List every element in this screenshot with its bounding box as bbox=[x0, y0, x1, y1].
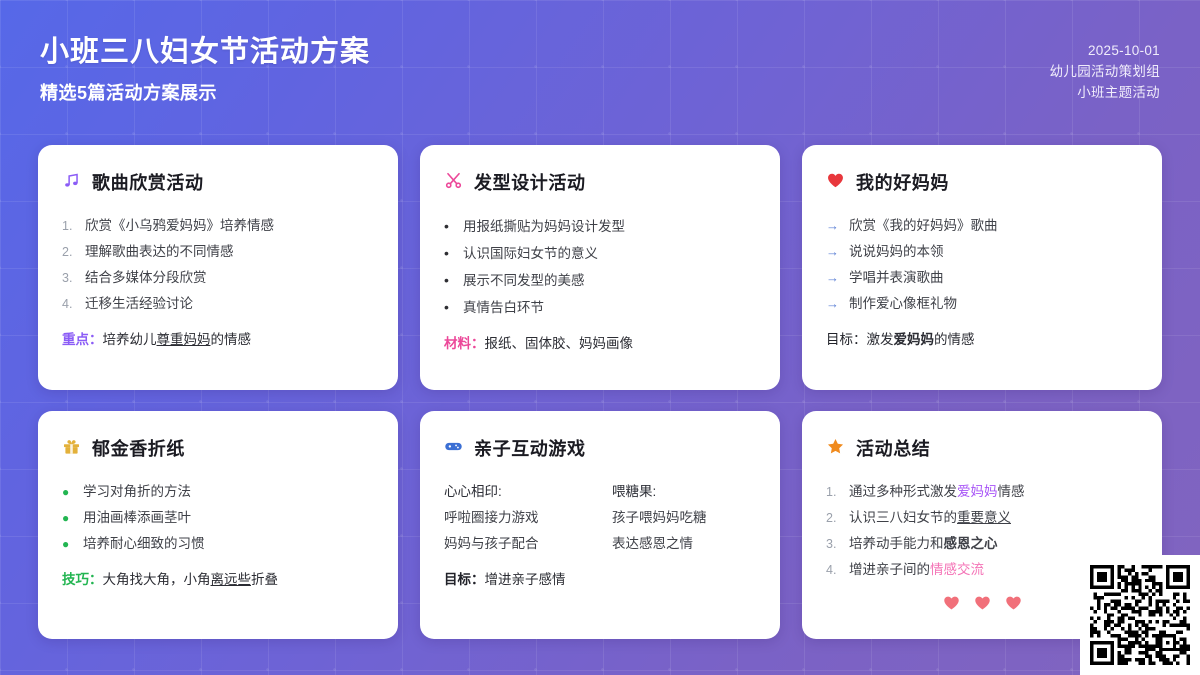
list-marker: 1. bbox=[826, 479, 841, 505]
note-body: 激发爱妈妈的情感 bbox=[867, 332, 975, 347]
activity-card[interactable]: 郁金香折纸●学习对角折的方法●用油画棒添画茎叶●培养耐心细致的习惯技巧：大角找大… bbox=[38, 411, 398, 639]
list-text: 认识三八妇女节的重要意义 bbox=[849, 505, 1138, 531]
note-label: 目标： bbox=[826, 332, 867, 347]
music-note-icon bbox=[62, 171, 81, 193]
list-item: 2.理解歌曲表达的不同情感 bbox=[62, 239, 374, 265]
activity-list: •用报纸撕贴为妈妈设计发型•认识国际妇女节的意义•展示不同发型的美感•真情告白环… bbox=[444, 213, 756, 321]
list-marker: • bbox=[444, 267, 455, 293]
text-run: 大角找大角，小角 bbox=[103, 572, 211, 587]
scissors-icon bbox=[444, 171, 463, 193]
card-title: 发型设计活动 bbox=[474, 169, 586, 195]
gift-icon bbox=[62, 437, 81, 459]
text-run: 培养幼儿 bbox=[103, 332, 157, 347]
note-body: 报纸、固体胶、妈妈画像 bbox=[485, 336, 634, 351]
list-marker: ● bbox=[62, 531, 75, 557]
page-header: 小班三八妇女节活动方案 精选5篇活动方案展示 2025-10-01 幼儿园活动策… bbox=[0, 0, 1200, 130]
game-line: 表达感恩之情 bbox=[612, 531, 756, 557]
heart-icon bbox=[943, 595, 960, 614]
highlight-pink: 情感交流 bbox=[930, 562, 984, 577]
highlight-bold: 爱妈妈 bbox=[894, 332, 935, 347]
card-header: 发型设计活动 bbox=[444, 169, 756, 195]
list-marker: → bbox=[826, 213, 841, 239]
list-marker: → bbox=[826, 291, 841, 317]
card-note: 重点：培养幼儿尊重妈妈的情感 bbox=[62, 328, 374, 352]
list-marker: • bbox=[444, 240, 455, 266]
list-item: 4.迁移生活经验讨论 bbox=[62, 291, 374, 317]
activity-card[interactable]: 我的好妈妈→欣赏《我的好妈妈》歌曲→说说妈妈的本领→学唱并表演歌曲→制作爱心像框… bbox=[802, 145, 1162, 390]
list-marker: ● bbox=[62, 505, 75, 531]
list-item: →学唱并表演歌曲 bbox=[826, 265, 1138, 291]
list-text: 真情告白环节 bbox=[463, 295, 756, 321]
list-text: 认识国际妇女节的意义 bbox=[463, 241, 756, 267]
card-title: 我的好妈妈 bbox=[856, 169, 949, 195]
header-left: 小班三八妇女节活动方案 精选5篇活动方案展示 bbox=[40, 34, 370, 105]
note-body: 培养幼儿尊重妈妈的情感 bbox=[103, 332, 252, 347]
game-line: 孩子喂妈妈吃糖 bbox=[612, 505, 756, 531]
game-column: 喂糖果:孩子喂妈妈吃糖表达感恩之情 bbox=[612, 479, 756, 557]
list-text: 培养耐心细致的习惯 bbox=[83, 531, 374, 557]
page-title: 小班三八妇女节活动方案 bbox=[40, 34, 370, 70]
highlight-underline: 尊重妈妈 bbox=[157, 332, 211, 347]
list-item: •真情告白环节 bbox=[444, 294, 756, 321]
highlight-purple: 爱妈妈 bbox=[957, 484, 998, 499]
note-body: 大角找大角，小角离远些折叠 bbox=[103, 572, 279, 587]
card-header: 我的好妈妈 bbox=[826, 169, 1138, 195]
star-icon bbox=[826, 437, 845, 459]
card-note: 技巧：大角找大角，小角离远些折叠 bbox=[62, 568, 374, 592]
list-marker: 4. bbox=[62, 291, 77, 317]
card-header: 亲子互动游戏 bbox=[444, 435, 756, 461]
list-text: 通过多种形式激发爱妈妈情感 bbox=[849, 479, 1138, 505]
list-text: 学习对角折的方法 bbox=[83, 479, 374, 505]
heart-icon bbox=[826, 171, 845, 193]
text-run: 认识三八妇女节的 bbox=[849, 510, 957, 525]
list-text: 理解歌曲表达的不同情感 bbox=[85, 239, 374, 265]
activity-list: →欣赏《我的好妈妈》歌曲→说说妈妈的本领→学唱并表演歌曲→制作爱心像框礼物 bbox=[826, 213, 1138, 317]
card-title: 活动总结 bbox=[856, 435, 930, 461]
list-item: 3.培养动手能力和感恩之心 bbox=[826, 531, 1138, 557]
text-run: 的情感 bbox=[934, 332, 975, 347]
list-item: •用报纸撕贴为妈妈设计发型 bbox=[444, 213, 756, 240]
list-item: →制作爱心像框礼物 bbox=[826, 291, 1138, 317]
page-subtitle: 精选5篇活动方案展示 bbox=[40, 79, 370, 105]
meta-organization: 幼儿园活动策划组 bbox=[1050, 61, 1160, 82]
list-text: 用报纸撕贴为妈妈设计发型 bbox=[463, 214, 756, 240]
list-item: 1.通过多种形式激发爱妈妈情感 bbox=[826, 479, 1138, 505]
activity-card[interactable]: 亲子互动游戏心心相印:呼啦圈接力游戏妈妈与孩子配合喂糖果:孩子喂妈妈吃糖表达感恩… bbox=[420, 411, 780, 639]
list-marker: • bbox=[444, 294, 455, 320]
list-item: ●用油画棒添画茎叶 bbox=[62, 505, 374, 531]
list-item: ●培养耐心细致的习惯 bbox=[62, 531, 374, 557]
list-item: ●学习对角折的方法 bbox=[62, 479, 374, 505]
note-label: 材料： bbox=[444, 336, 485, 351]
text-run: 情感 bbox=[998, 484, 1025, 499]
list-marker: → bbox=[826, 239, 841, 265]
text-run: 培养动手能力和 bbox=[849, 536, 944, 551]
list-item: →说说妈妈的本领 bbox=[826, 239, 1138, 265]
list-item: •展示不同发型的美感 bbox=[444, 267, 756, 294]
card-header: 活动总结 bbox=[826, 435, 1138, 461]
text-run: 报纸、固体胶、妈妈画像 bbox=[485, 336, 634, 351]
game-heading: 心心相印: bbox=[444, 479, 588, 505]
highlight-underline: 离远些 bbox=[211, 572, 252, 587]
text-run: 通过多种形式激发 bbox=[849, 484, 957, 499]
list-text: 说说妈妈的本领 bbox=[849, 239, 1138, 265]
note-body: 增进亲子感情 bbox=[485, 572, 566, 587]
list-marker: 1. bbox=[62, 213, 77, 239]
list-item: 2.认识三八妇女节的重要意义 bbox=[826, 505, 1138, 531]
list-marker: 3. bbox=[62, 265, 77, 291]
meta-activity-kind: 小班主题活动 bbox=[1077, 82, 1160, 103]
list-text: 欣赏《我的好妈妈》歌曲 bbox=[849, 213, 1138, 239]
list-text: 制作爱心像框礼物 bbox=[849, 291, 1138, 317]
list-marker: 3. bbox=[826, 531, 841, 557]
list-item: 1.欣赏《小乌鸦爱妈妈》培养情感 bbox=[62, 213, 374, 239]
list-text: 学唱并表演歌曲 bbox=[849, 265, 1138, 291]
highlight-bold: 感恩之心 bbox=[944, 536, 998, 551]
card-title: 亲子互动游戏 bbox=[474, 435, 586, 461]
card-note: 材料：报纸、固体胶、妈妈画像 bbox=[444, 332, 756, 356]
activity-card[interactable]: 发型设计活动•用报纸撕贴为妈妈设计发型•认识国际妇女节的意义•展示不同发型的美感… bbox=[420, 145, 780, 390]
list-text: 培养动手能力和感恩之心 bbox=[849, 531, 1138, 557]
list-marker: 2. bbox=[62, 239, 77, 265]
list-marker: ● bbox=[62, 479, 75, 505]
game-column: 心心相印:呼啦圈接力游戏妈妈与孩子配合 bbox=[444, 479, 588, 557]
header-meta: 2025-10-01 幼儿园活动策划组 小班主题活动 bbox=[1050, 34, 1160, 103]
meta-date: 2025-10-01 bbox=[1088, 40, 1160, 61]
activity-list: 1.欣赏《小乌鸦爱妈妈》培养情感2.理解歌曲表达的不同情感3.结合多媒体分段欣赏… bbox=[62, 213, 374, 317]
list-text: 用油画棒添画茎叶 bbox=[83, 505, 374, 531]
text-run: 激发 bbox=[867, 332, 894, 347]
qr-code-panel bbox=[1080, 555, 1200, 675]
list-marker: 2. bbox=[826, 505, 841, 531]
activity-card[interactable]: 歌曲欣赏活动1.欣赏《小乌鸦爱妈妈》培养情感2.理解歌曲表达的不同情感3.结合多… bbox=[38, 145, 398, 390]
highlight-underline: 重要意义 bbox=[957, 510, 1011, 525]
two-column-body: 心心相印:呼啦圈接力游戏妈妈与孩子配合喂糖果:孩子喂妈妈吃糖表达感恩之情 bbox=[444, 479, 756, 557]
list-item: →欣赏《我的好妈妈》歌曲 bbox=[826, 213, 1138, 239]
list-text: 结合多媒体分段欣赏 bbox=[85, 265, 374, 291]
list-marker: → bbox=[826, 265, 841, 291]
list-text: 展示不同发型的美感 bbox=[463, 268, 756, 294]
note-label: 目标： bbox=[444, 572, 485, 587]
note-label: 技巧： bbox=[62, 572, 103, 587]
card-note: 目标：增进亲子感情 bbox=[444, 568, 756, 592]
card-title: 歌曲欣赏活动 bbox=[92, 169, 204, 195]
game-line: 妈妈与孩子配合 bbox=[444, 531, 588, 557]
card-header: 郁金香折纸 bbox=[62, 435, 374, 461]
heart-icon bbox=[1005, 595, 1022, 614]
heart-icon bbox=[974, 595, 991, 614]
list-item: •认识国际妇女节的意义 bbox=[444, 240, 756, 267]
note-label: 重点： bbox=[62, 332, 103, 347]
card-header: 歌曲欣赏活动 bbox=[62, 169, 374, 195]
gamepad-icon bbox=[444, 437, 463, 459]
list-marker: 4. bbox=[826, 557, 841, 583]
slide-page: 小班三八妇女节活动方案 精选5篇活动方案展示 2025-10-01 幼儿园活动策… bbox=[0, 0, 1200, 675]
text-run: 折叠 bbox=[251, 572, 278, 587]
card-note: 目标：激发爱妈妈的情感 bbox=[826, 328, 1138, 352]
list-marker: • bbox=[444, 213, 455, 239]
card-grid: 歌曲欣赏活动1.欣赏《小乌鸦爱妈妈》培养情感2.理解歌曲表达的不同情感3.结合多… bbox=[38, 145, 1162, 639]
list-text: 欣赏《小乌鸦爱妈妈》培养情感 bbox=[85, 213, 374, 239]
qr-code bbox=[1090, 565, 1190, 665]
game-heading: 喂糖果: bbox=[612, 479, 756, 505]
list-item: 3.结合多媒体分段欣赏 bbox=[62, 265, 374, 291]
text-run: 增进亲子间的 bbox=[849, 562, 930, 577]
game-line: 呼啦圈接力游戏 bbox=[444, 505, 588, 531]
list-text: 迁移生活经验讨论 bbox=[85, 291, 374, 317]
text-run: 增进亲子感情 bbox=[485, 572, 566, 587]
text-run: 的情感 bbox=[211, 332, 252, 347]
activity-list: ●学习对角折的方法●用油画棒添画茎叶●培养耐心细致的习惯 bbox=[62, 479, 374, 557]
card-title: 郁金香折纸 bbox=[92, 435, 185, 461]
